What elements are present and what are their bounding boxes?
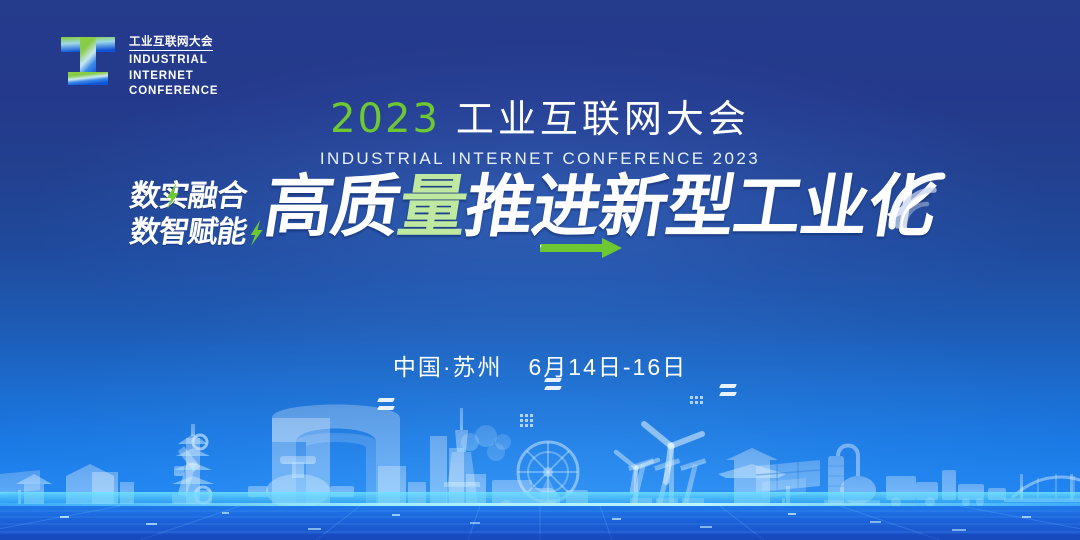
event-date: 6月14日-16日 [529,354,688,380]
title-block: 2023 工业互联网大会 INDUSTRIAL INTERNET CONFERE… [0,88,1080,169]
title-year: 2023 [330,96,440,142]
slogan-main-part-2: 量 [393,169,472,245]
event-location: 中国·苏州 [393,354,503,380]
slogan-secondary-line-2: 数智赋能 [127,216,248,250]
slogan-inner: 数实融合 数智赋能 高质量推进新型工业化 [0,178,1080,278]
slogan-block: 数实融合 数智赋能 高质量推进新型工业化 [0,178,1080,278]
conference-banner: 工业互联网大会 INDUSTRIAL INTERNET CONFERENCE 2… [0,0,1080,540]
logo-chinese-name: 工业互联网大会 [129,35,213,51]
slogan-secondary-line-1-text: 数实融合 [127,180,248,213]
slogan-main: 高质量推进新型工业化 [259,172,940,243]
event-meta: 中国·苏州6月14日-16日 [0,348,1080,382]
slogan-secondary-line-2-text: 数智赋能 [127,216,248,249]
title-row: 2023 工业互联网大会 [330,88,750,143]
slogan-main-part-4: 新型工业化 [594,169,941,245]
logo-english-line-2: INTERNET [129,69,219,84]
title-english: INDUSTRIAL INTERNET CONFERENCE 2023 [0,149,1080,169]
slogan-secondary: 数实融合 数智赋能 [130,180,246,250]
slogan-main-part-3: 推进 [460,169,606,245]
slogan-main-part-1: 高质 [259,169,405,245]
logo-english-line-1: INDUSTRIAL [129,53,219,68]
ground-light-grid [0,492,1080,540]
conference-logo-icon [57,30,119,92]
slogan-secondary-line-1: 数实融合 [127,180,248,214]
title-chinese: 工业互联网大会 [456,88,750,143]
